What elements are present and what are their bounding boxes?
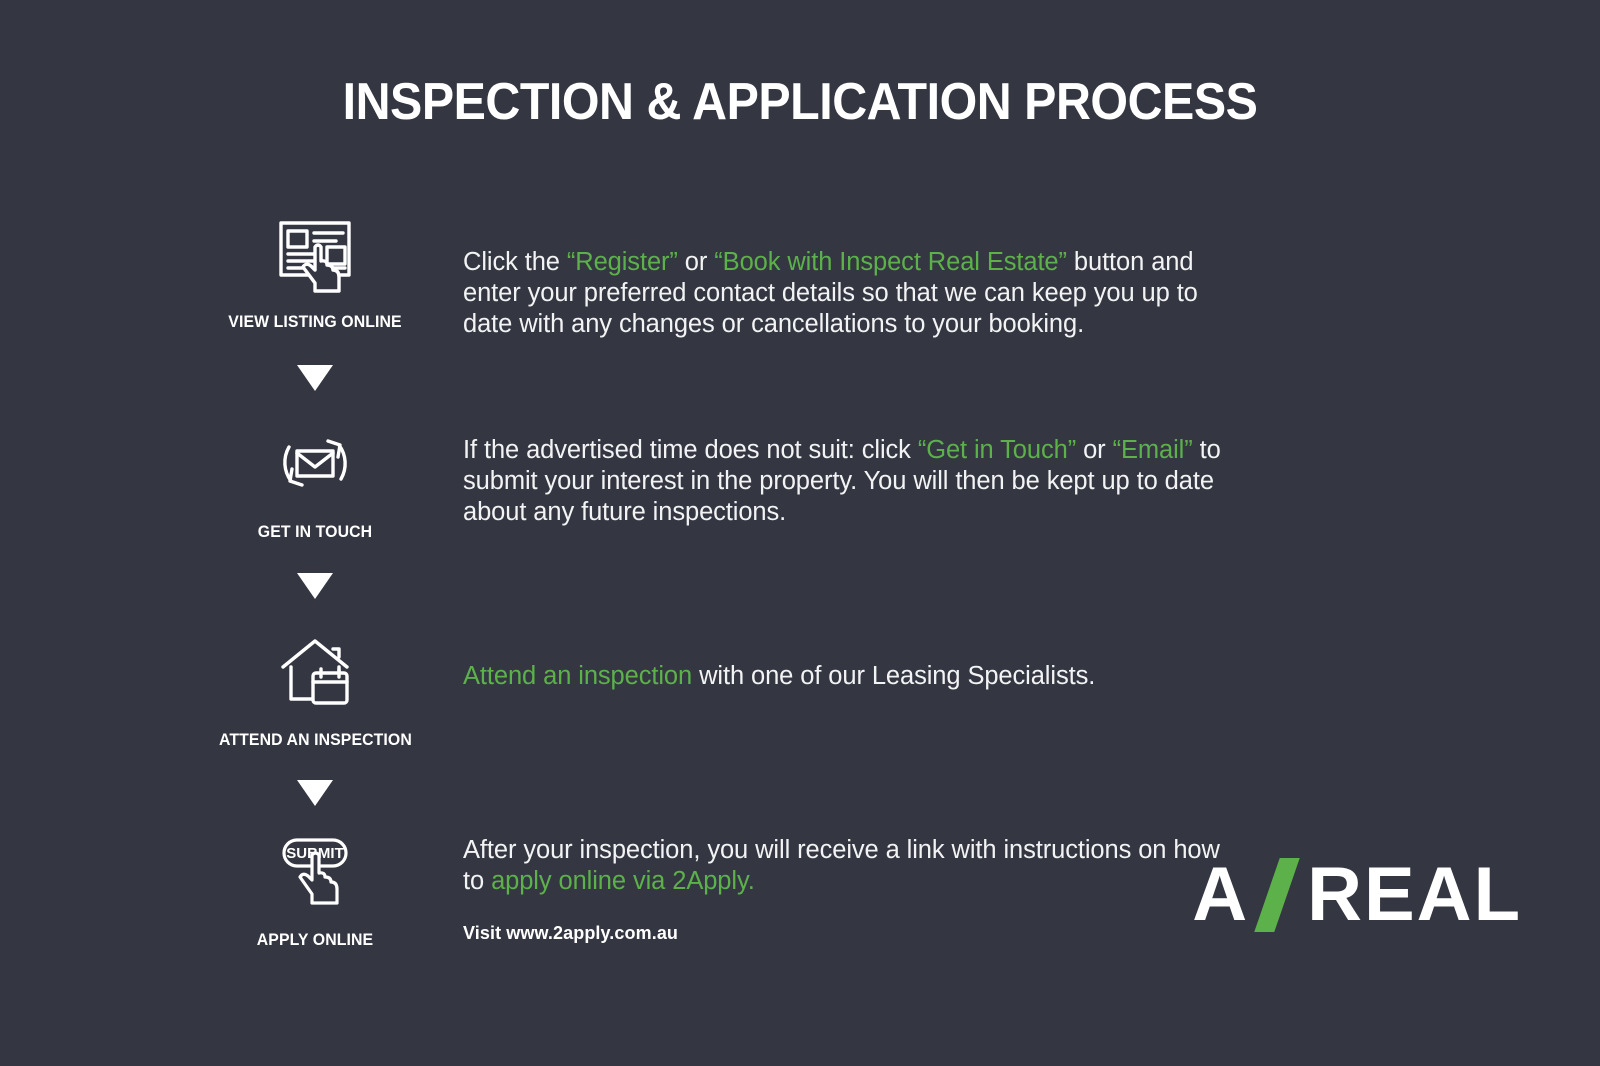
down-triangle-icon <box>297 780 333 806</box>
step-1-text-0: Click the <box>463 248 567 276</box>
step-1-text-1: “Register” <box>567 248 678 276</box>
separator-arrow-2 <box>215 573 415 599</box>
visit-url-note: Visit www.2apply.com.au <box>463 923 1233 945</box>
step-3-text-1: with one of our Leasing Specialists. <box>692 662 1095 690</box>
step-2-text-2: or <box>1076 436 1112 464</box>
separator-arrow-1 <box>215 365 415 391</box>
logo-prefix: A <box>1192 851 1249 938</box>
envelope-refresh-icon <box>215 415 415 511</box>
listing-window-click-icon <box>215 205 415 301</box>
step-4-caption: APPLY ONLINE <box>219 931 411 950</box>
step-4-icon-column: SUBMIT APPLY ONLINE <box>215 823 415 950</box>
step-2-text-1: “Get in Touch” <box>918 436 1076 464</box>
step-3-caption: ATTEND AN INSPECTION <box>219 731 411 750</box>
step-4-text-1: apply online via 2Apply. <box>491 867 755 895</box>
step-3-text-0: Attend an inspection <box>463 662 692 690</box>
step-2-text-3: “Email” <box>1113 436 1193 464</box>
down-triangle-icon <box>297 573 333 599</box>
step-2-caption: GET IN TOUCH <box>219 523 411 542</box>
step-2-body: If the advertised time does not suit: cl… <box>463 435 1233 528</box>
page-title: INSPECTION & APPLICATION PROCESS <box>56 72 1544 132</box>
infographic-page: INSPECTION & APPLICATION PROCESS <box>0 0 1600 1066</box>
separator-arrow-3 <box>215 780 415 806</box>
step-1-text-3: “Book with Inspect Real Estate” <box>714 248 1067 276</box>
step-1-icon-column: VIEW LISTING ONLINE <box>215 205 415 332</box>
step-1-caption: VIEW LISTING ONLINE <box>219 313 411 332</box>
logo-suffix: REAL <box>1307 851 1522 938</box>
step-4-body: After your inspection, you will receive … <box>463 835 1233 945</box>
submit-button-click-icon: SUBMIT <box>215 823 415 919</box>
step-1-text-2: or <box>678 248 714 276</box>
down-triangle-icon <box>297 365 333 391</box>
brand-logo: A REAL <box>1192 851 1522 938</box>
step-3-icon-column: ATTEND AN INSPECTION <box>215 623 415 750</box>
step-3-body: Attend an inspection with one of our Lea… <box>463 661 1233 692</box>
step-1-body: Click the “Register” or “Book with Inspe… <box>463 247 1233 340</box>
step-2-icon-column: GET IN TOUCH <box>215 415 415 542</box>
house-calendar-icon <box>215 623 415 719</box>
step-2-text-0: If the advertised time does not suit: cl… <box>463 436 918 464</box>
logo-slash-icon <box>1254 858 1299 932</box>
